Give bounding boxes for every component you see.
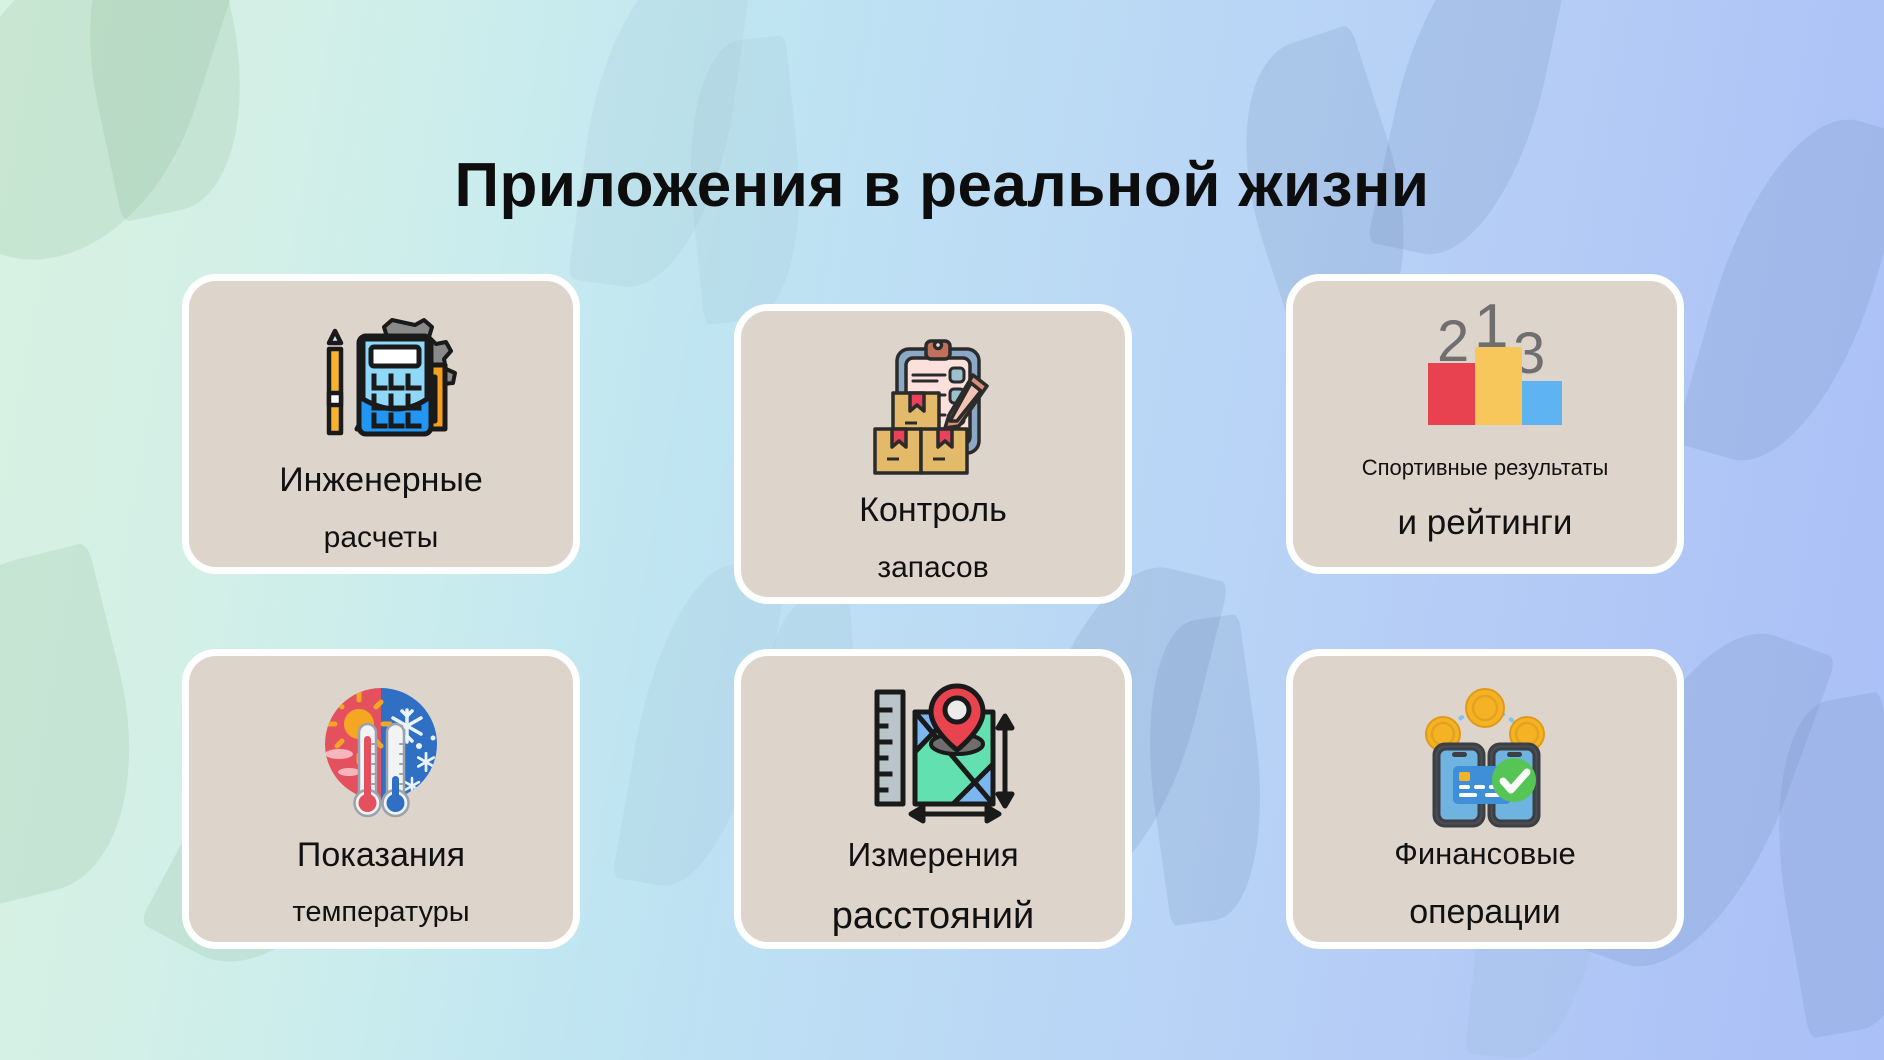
card-label-line-1: Измерения [832, 838, 1034, 871]
card-label-line-2: операции [1394, 895, 1575, 929]
card-temperature[interactable]: Показания температуры [182, 649, 580, 949]
card-finance[interactable]: Финансовые операции [1286, 649, 1684, 949]
card-sports[interactable]: 2 1 3 Спортивные результаты и рейтинги [1286, 274, 1684, 574]
card-label-line-2: и рейтинги [1362, 505, 1609, 540]
card-distance[interactable]: Измерения расстояний [734, 649, 1132, 949]
phones-payment-icon [1401, 678, 1569, 830]
card-label: Контроль запасов [859, 489, 1007, 583]
clipboard-boxes-icon [849, 333, 1017, 485]
card-label: Инженерные расчеты [279, 459, 483, 553]
card-label-line-1: Инженерные [279, 463, 483, 497]
card-label: Измерения расстояний [832, 834, 1034, 935]
leaf-shape [1367, 0, 1573, 271]
card-engineering[interactable]: Инженерные расчеты [182, 274, 580, 574]
card-label-line-1: Показания [292, 838, 469, 872]
ruler-map-pin-icon [849, 678, 1017, 830]
card-label-line-1: Спортивные результаты [1362, 457, 1609, 479]
hot-cold-thermometer-icon [297, 678, 465, 830]
leaf-shape [0, 542, 167, 908]
page-title: Приложения в реальной жизни [0, 150, 1884, 221]
calculator-gear-pencil-icon [297, 303, 465, 455]
card-label-line-2: запасов [859, 553, 1007, 583]
card-inventory[interactable]: Контроль запасов [734, 304, 1132, 604]
card-label-line-2: расчеты [279, 523, 483, 553]
card-label: Финансовые операции [1394, 834, 1575, 929]
leaf-shape [1752, 691, 1884, 1039]
card-label: Спортивные результаты и рейтинги [1362, 453, 1609, 540]
card-label-line-2: температуры [292, 898, 469, 927]
card-label: Показания температуры [292, 834, 469, 927]
card-label-line-2: расстояний [832, 897, 1034, 935]
card-label-line-1: Финансовые [1394, 838, 1575, 869]
card-label-line-1: Контроль [859, 493, 1007, 527]
podium-ranking-icon: 2 1 3 [1401, 303, 1569, 449]
applications-grid: Инженерные расчеты [182, 274, 1702, 974]
